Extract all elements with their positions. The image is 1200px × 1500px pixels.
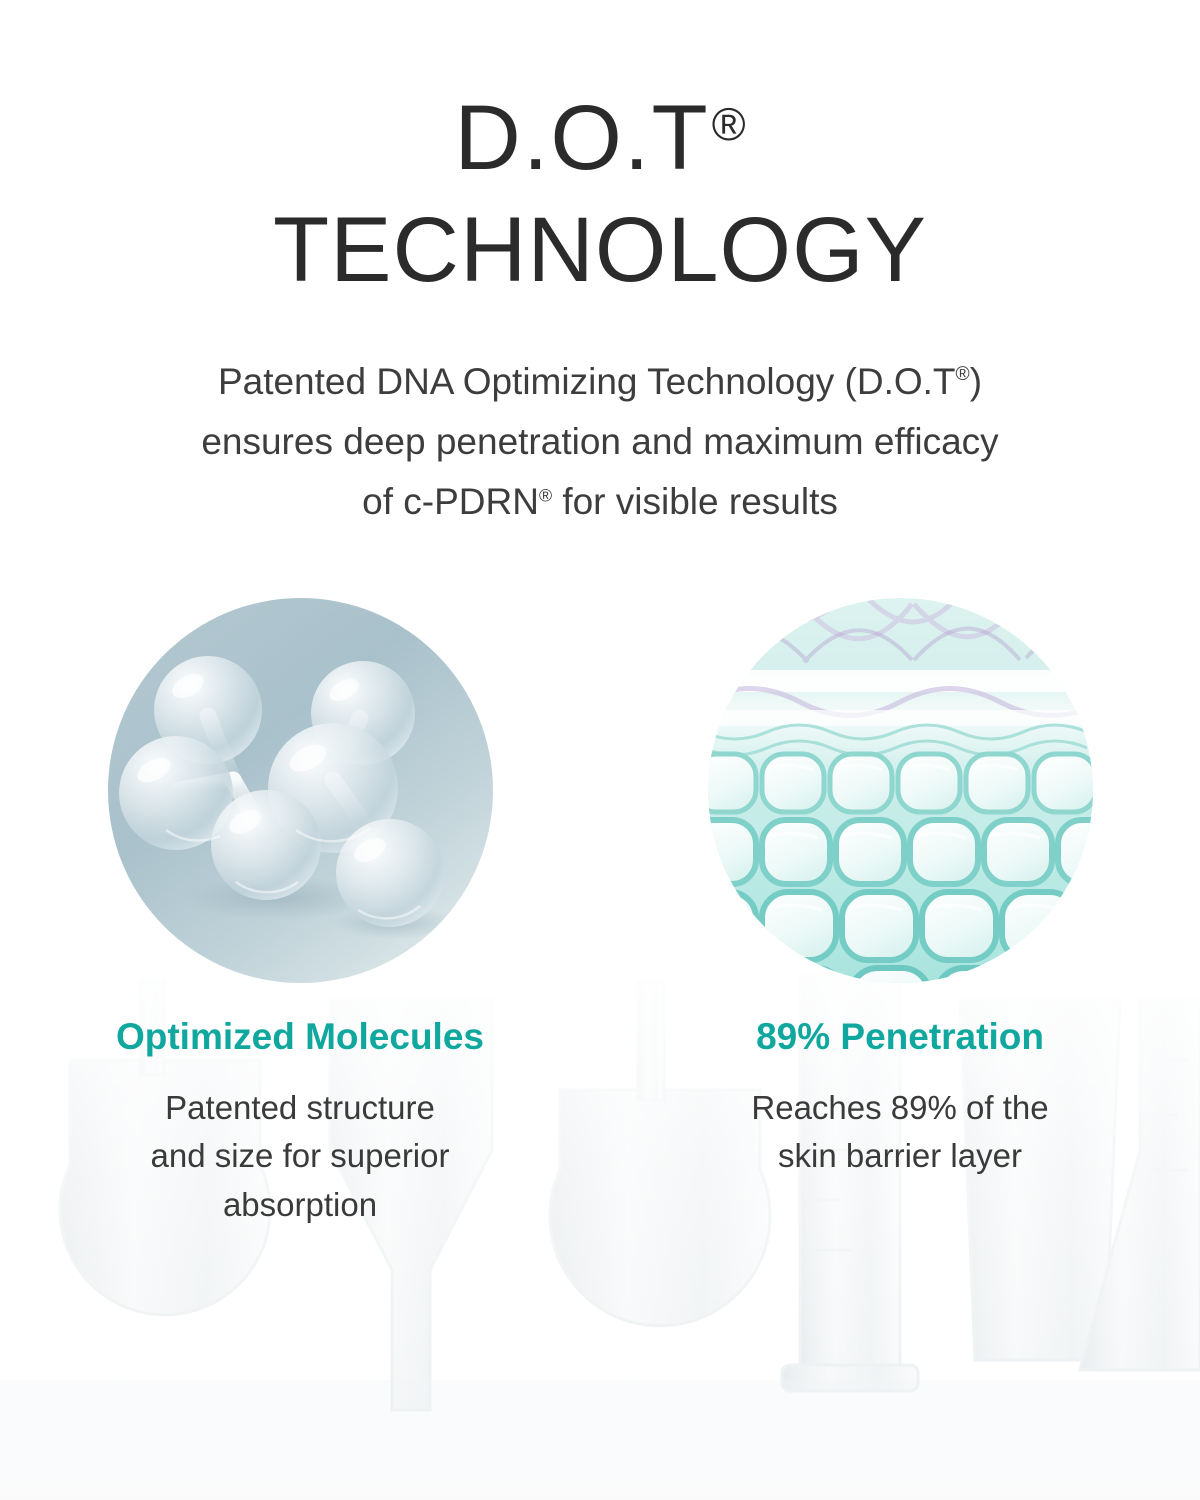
subtitle-line-1-close: ) xyxy=(970,361,982,402)
feature-body-line: and size for superior xyxy=(151,1132,450,1181)
feature-body-optimized-molecules: Patented structure and size for superior… xyxy=(151,1084,450,1230)
page-title-primary-text: D.O.T xyxy=(454,87,709,189)
feature-body-penetration: Reaches 89% of the skin barrier layer xyxy=(751,1084,1048,1182)
feature-body-line: Patented structure xyxy=(151,1084,450,1133)
registered-trademark-icon: ® xyxy=(539,485,552,505)
feature-heading-penetration: 89% Penetration xyxy=(756,1017,1044,1058)
registered-trademark-icon: ® xyxy=(712,98,746,150)
feature-heading-optimized-molecules: Optimized Molecules xyxy=(116,1017,484,1058)
feature-body-line: Reaches 89% of the xyxy=(751,1084,1048,1133)
subtitle-line-3-text: of c-PDRN xyxy=(362,481,539,522)
subtitle-line-3: of c-PDRN® for visible results xyxy=(100,472,1100,532)
page-title-primary: D.O.T® xyxy=(0,92,1200,184)
feature-body-line: skin barrier layer xyxy=(751,1132,1048,1181)
page-title-block: D.O.T® TECHNOLOGY xyxy=(0,0,1200,296)
subtitle-line-3-tail: for visible results xyxy=(552,481,838,522)
feature-body-line: absorption xyxy=(151,1181,450,1230)
page-title-secondary: TECHNOLOGY xyxy=(0,204,1200,296)
skin-barrier-illustration xyxy=(708,598,1093,983)
subtitle-line-1-text: Patented DNA Optimizing Technology (D.O.… xyxy=(218,361,956,402)
page-subtitle: Patented DNA Optimizing Technology (D.O.… xyxy=(100,352,1100,532)
features-row: Optimized Molecules Patented structure a… xyxy=(0,598,1200,1230)
dot-technology-infographic: D.O.T® TECHNOLOGY Patented DNA Optimizin… xyxy=(0,0,1200,1500)
feature-penetration: 89% Penetration Reaches 89% of the skin … xyxy=(600,598,1200,1230)
subtitle-line-2: ensures deep penetration and maximum eff… xyxy=(100,412,1100,472)
molecule-illustration xyxy=(108,598,493,983)
feature-optimized-molecules: Optimized Molecules Patented structure a… xyxy=(0,598,600,1230)
registered-trademark-icon: ® xyxy=(956,364,970,385)
subtitle-line-1: Patented DNA Optimizing Technology (D.O.… xyxy=(100,352,1100,412)
